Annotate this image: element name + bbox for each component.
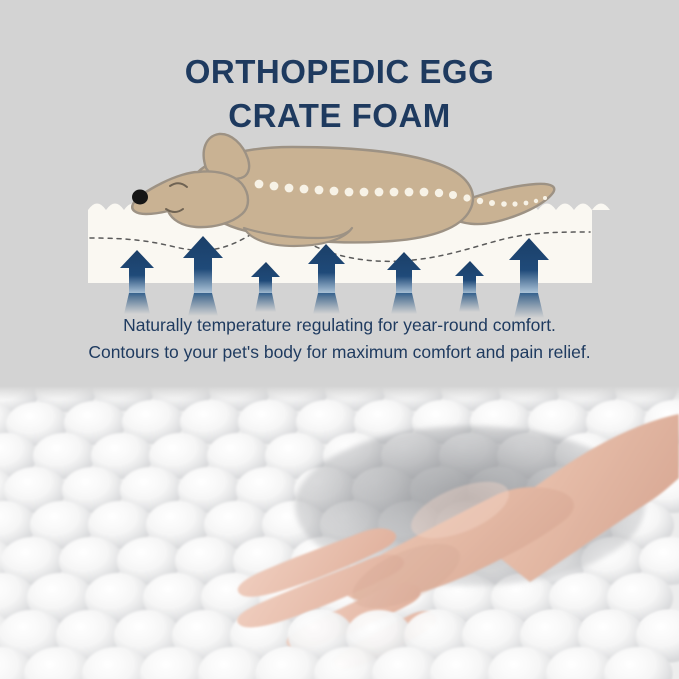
feature-description-line-2: Contours to your pet's body for maximum … [0, 339, 679, 366]
dog-nose [132, 190, 148, 205]
feature-description-line-1: Naturally temperature regulating for yea… [0, 312, 679, 339]
foam-closeup-photo [0, 386, 679, 679]
product-feature-graphic: ORTHOPEDIC EGG CRATE FOAM [0, 0, 679, 679]
photo-top-fade [0, 386, 679, 400]
feature-description: Naturally temperature regulating for yea… [0, 312, 679, 365]
dog-on-foam-illustration [0, 128, 679, 318]
infographic-panel: ORTHOPEDIC EGG CRATE FOAM [0, 0, 679, 386]
page-title: ORTHOPEDIC EGG CRATE FOAM [0, 50, 679, 137]
